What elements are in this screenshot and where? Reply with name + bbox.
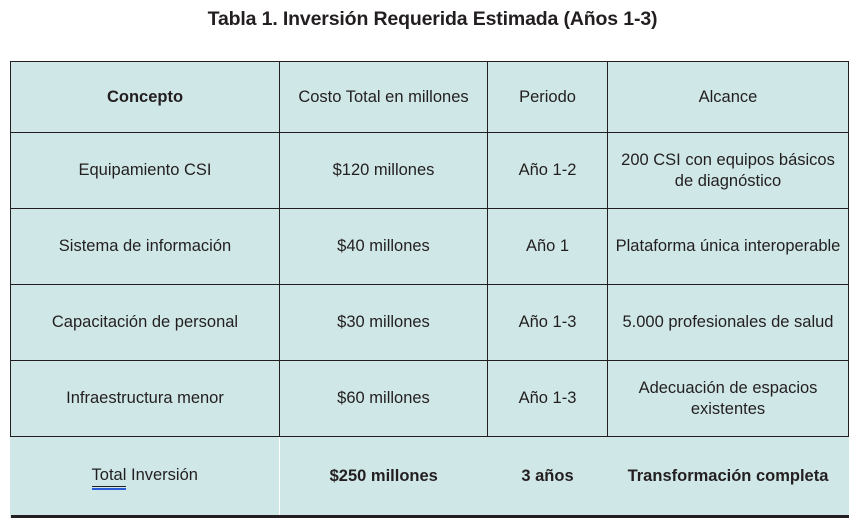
cell-concepto: Infraestructura menor <box>11 361 280 437</box>
total-label-underlined: Total <box>92 465 127 488</box>
cell-concepto: Capacitación de personal <box>11 285 280 361</box>
cell-concepto: Equipamiento CSI <box>11 133 280 209</box>
cell-alcance: Adecuación de espacios existentes <box>608 361 849 437</box>
column-header-costo-total: Costo Total en millones <box>280 62 488 133</box>
cell-total-costo: $250 millones <box>280 437 488 517</box>
table-header-row: Concepto Costo Total en millones Periodo… <box>11 62 849 133</box>
table-row: Infraestructura menor $60 millones Año 1… <box>11 361 849 437</box>
page-title: Tabla 1. Inversión Requerida Estimada (A… <box>0 8 865 31</box>
table-row: Equipamiento CSI $120 millones Año 1-2 2… <box>11 133 849 209</box>
column-header-periodo: Periodo <box>488 62 608 133</box>
column-header-alcance: Alcance <box>608 62 849 133</box>
cell-total-periodo: 3 años <box>488 437 608 517</box>
cell-concepto: Sistema de información <box>11 209 280 285</box>
investment-table-container: Concepto Costo Total en millones Periodo… <box>10 61 848 518</box>
cell-periodo: Año 1-3 <box>488 285 608 361</box>
table-row: Capacitación de personal $30 millones Añ… <box>11 285 849 361</box>
table-row: Sistema de información $40 millones Año … <box>11 209 849 285</box>
cell-costo: $120 millones <box>280 133 488 209</box>
cell-periodo: Año 1-3 <box>488 361 608 437</box>
column-header-concepto: Concepto <box>11 62 280 133</box>
cell-costo: $40 millones <box>280 209 488 285</box>
cell-costo: $60 millones <box>280 361 488 437</box>
total-label-rest: Inversión <box>126 466 198 484</box>
cell-total-alcance: Transformación completa <box>608 437 849 517</box>
cell-alcance: 200 CSI con equipos básicos de diagnósti… <box>608 133 849 209</box>
cell-alcance: 5.000 profesionales de salud <box>608 285 849 361</box>
cell-alcance: Plataforma única interoperable <box>608 209 849 285</box>
investment-table: Concepto Costo Total en millones Periodo… <box>10 61 849 518</box>
cell-periodo: Año 1 <box>488 209 608 285</box>
table-total-row: Total Inversión $250 millones 3 años Tra… <box>11 437 849 517</box>
document-page: Tabla 1. Inversión Requerida Estimada (A… <box>0 0 865 483</box>
cell-total-concepto: Total Inversión <box>11 437 280 517</box>
cell-costo: $30 millones <box>280 285 488 361</box>
cell-periodo: Año 1-2 <box>488 133 608 209</box>
